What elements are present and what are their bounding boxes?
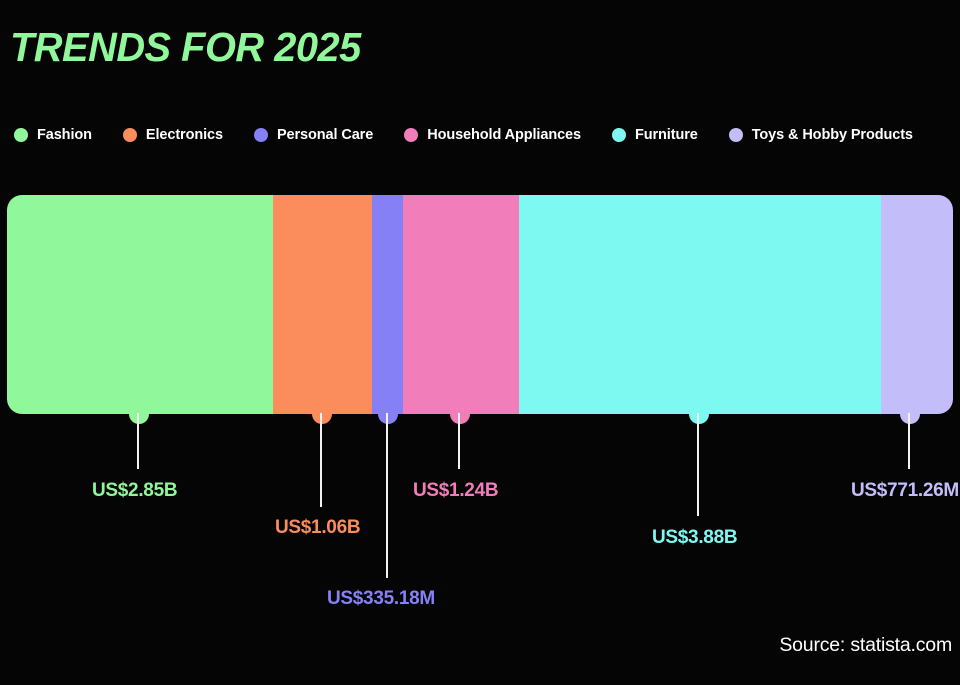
stacked-bar bbox=[7, 195, 953, 414]
source-attribution: Source: statista.com bbox=[779, 636, 952, 656]
legend-item-fashion[interactable]: Fashion bbox=[14, 128, 92, 143]
legend-item-label: Electronics bbox=[146, 128, 223, 143]
legend-swatch-icon bbox=[729, 128, 743, 142]
value-label-household-appliances: US$1.24B bbox=[413, 481, 498, 500]
legend-item-label: Toys & Hobby Products bbox=[752, 128, 913, 143]
leader-line-electronics bbox=[320, 413, 322, 507]
legend-item-electronics[interactable]: Electronics bbox=[123, 128, 223, 143]
leader-bulb-household-appliances bbox=[450, 404, 470, 424]
legend-swatch-icon bbox=[14, 128, 28, 142]
legend-item-furniture[interactable]: Furniture bbox=[612, 128, 698, 143]
leader-bulb-fashion bbox=[129, 404, 149, 424]
leader-bulb-toys-hobby-products bbox=[900, 404, 920, 424]
legend-item-personal-care[interactable]: Personal Care bbox=[254, 128, 373, 143]
leader-line-toys-hobby-products bbox=[908, 413, 910, 469]
value-label-toys-hobby-products: US$771.26M bbox=[851, 481, 959, 500]
value-label-electronics: US$1.06B bbox=[275, 518, 360, 537]
legend-item-label: Furniture bbox=[635, 128, 698, 143]
legend-item-label: Fashion bbox=[37, 128, 92, 143]
legend-item-toys-hobby-products[interactable]: Toys & Hobby Products bbox=[729, 128, 913, 143]
legend-item-household-appliances[interactable]: Household Appliances bbox=[404, 128, 581, 143]
bar-segment-fashion[interactable] bbox=[7, 195, 273, 414]
leader-bulb-electronics bbox=[312, 404, 332, 424]
leader-bulb-personal-care bbox=[378, 404, 398, 424]
leader-line-personal-care bbox=[386, 413, 388, 578]
bar-segment-household-appliances[interactable] bbox=[403, 195, 519, 414]
legend-item-label: Household Appliances bbox=[427, 128, 581, 143]
bar-segment-electronics[interactable] bbox=[273, 195, 372, 414]
leader-line-fashion bbox=[137, 413, 139, 469]
legend-swatch-icon bbox=[404, 128, 418, 142]
value-label-personal-care: US$335.18M bbox=[327, 589, 435, 608]
legend-swatch-icon bbox=[254, 128, 268, 142]
legend-item-label: Personal Care bbox=[277, 128, 373, 143]
page-title: TRENDS FOR 2025 bbox=[10, 27, 361, 68]
chart-canvas: TRENDS FOR 2025 FashionElectronicsPerson… bbox=[0, 0, 960, 685]
legend-swatch-icon bbox=[612, 128, 626, 142]
bar-segment-furniture[interactable] bbox=[519, 195, 881, 414]
leader-line-household-appliances bbox=[458, 413, 460, 469]
leader-bulb-furniture bbox=[689, 404, 709, 424]
leader-line-furniture bbox=[697, 413, 699, 516]
chart-legend: FashionElectronicsPersonal CareHousehold… bbox=[14, 124, 944, 146]
value-label-furniture: US$3.88B bbox=[652, 528, 737, 547]
bar-segment-toys-hobby-products[interactable] bbox=[881, 195, 953, 414]
legend-swatch-icon bbox=[123, 128, 137, 142]
bar-segment-personal-care[interactable] bbox=[372, 195, 403, 414]
value-label-fashion: US$2.85B bbox=[92, 481, 177, 500]
